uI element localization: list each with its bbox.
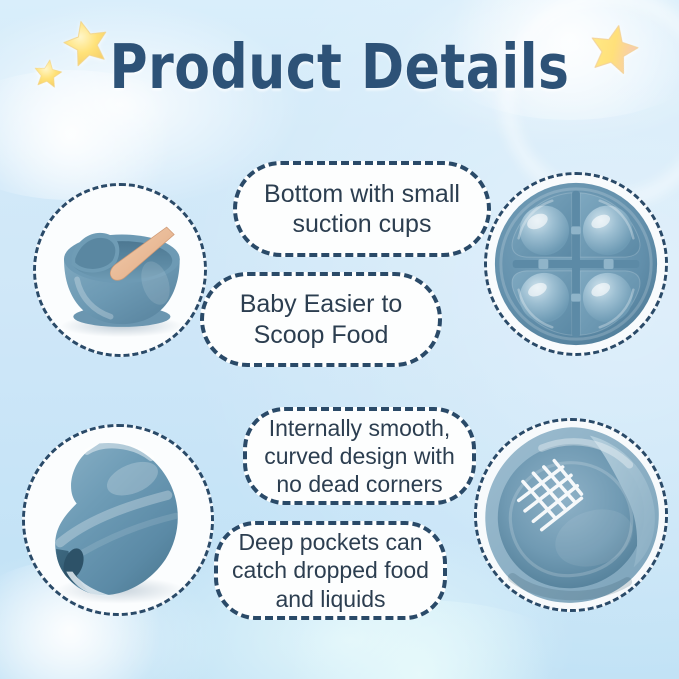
callout-scoop-food-label: Baby Easier to Scoop Food xyxy=(240,289,403,350)
callout-suction-cups-label: Bottom with small suction cups xyxy=(264,179,460,240)
photo-flexible-bowl xyxy=(22,424,214,616)
photo-bowl-with-spoon xyxy=(33,183,207,357)
bowl-interior-illustration xyxy=(477,421,665,609)
flexible-bowl-illustration xyxy=(25,427,211,613)
suction-cups-illustration xyxy=(487,175,665,353)
callout-deep-pockets-label: Deep pockets can catch dropped food and … xyxy=(232,528,429,612)
callout-suction-cups: Bottom with small suction cups xyxy=(233,161,491,257)
bowl-with-spoon-illustration xyxy=(36,186,204,354)
callout-scoop-food: Baby Easier to Scoop Food xyxy=(200,272,442,367)
product-details-infographic: Product Details xyxy=(0,0,679,679)
photo-suction-cups-underside xyxy=(484,172,668,356)
photo-bowl-interior xyxy=(474,418,668,612)
callout-deep-pockets: Deep pockets can catch dropped food and … xyxy=(214,521,447,620)
callout-internally-smooth: Internally smooth, curved design with no… xyxy=(243,407,476,505)
callout-internally-smooth-label: Internally smooth, curved design with no… xyxy=(264,414,455,498)
page-title: Product Details xyxy=(110,33,570,104)
page-title-container: Product Details xyxy=(0,38,679,98)
